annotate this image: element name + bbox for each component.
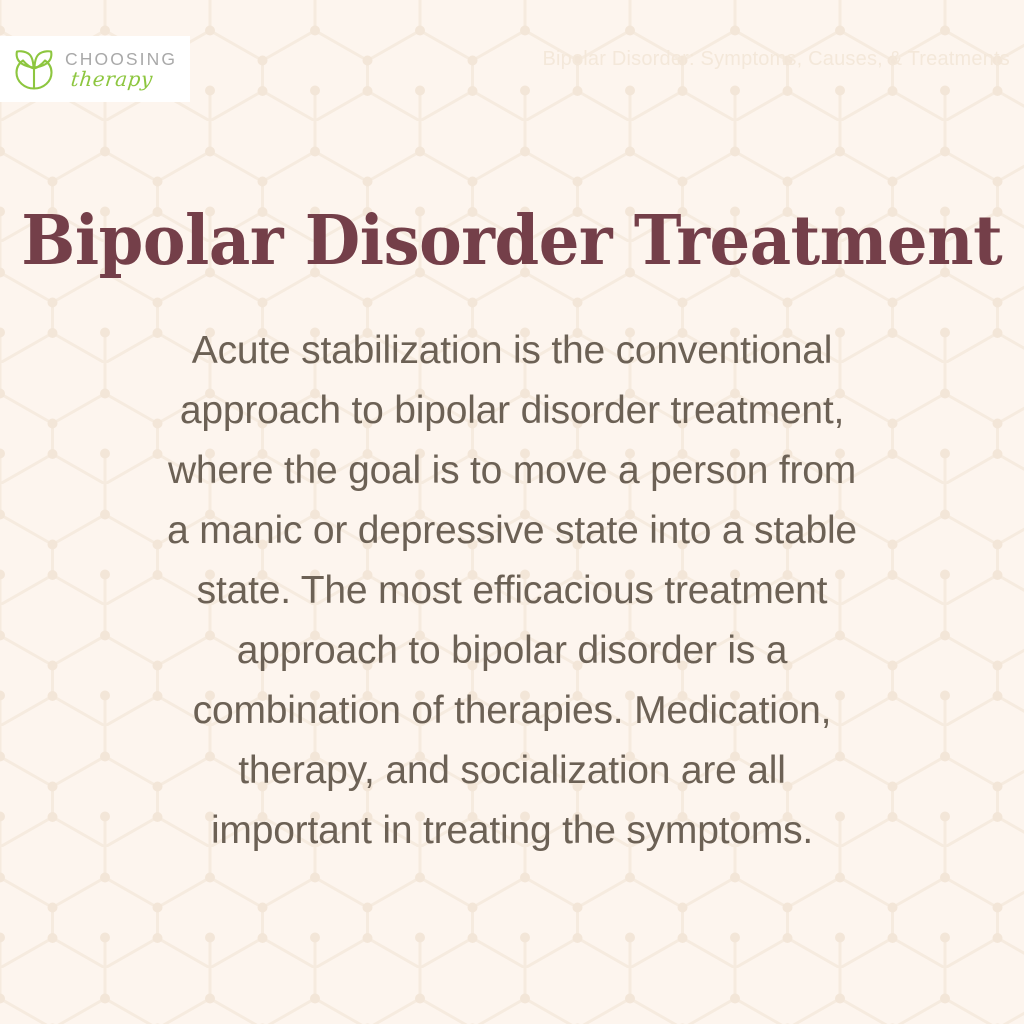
body-line: Acute stabilization is the conventional	[127, 321, 897, 381]
body-line: therapy, and socialization are all	[127, 741, 897, 801]
body-line: approach to bipolar disorder treatment,	[127, 381, 897, 441]
lotus-leaf-icon	[10, 47, 58, 91]
brand-name-secondary: therapy	[70, 69, 178, 89]
body-line: state. The most efficacious treatment	[127, 561, 897, 621]
brand-name-primary: CHOOSING	[65, 51, 177, 69]
brand-logo[interactable]: CHOOSING therapy	[0, 36, 190, 102]
body-line: where the goal is to move a person from	[127, 441, 897, 501]
body-copy: Acute stabilization is the conventionala…	[127, 321, 897, 861]
body-line: important in treating the symptoms.	[127, 801, 897, 861]
brand-wordmark: CHOOSING therapy	[65, 49, 177, 90]
page-title: Bipolar Disorder Treatment	[22, 206, 1003, 277]
content-area: Bipolar Disorder Treatment Acute stabili…	[0, 0, 1024, 1024]
body-line: approach to bipolar disorder is a	[127, 621, 897, 681]
body-line: combination of therapies. Medication,	[127, 681, 897, 741]
body-line: a manic or depressive state into a stabl…	[127, 501, 897, 561]
